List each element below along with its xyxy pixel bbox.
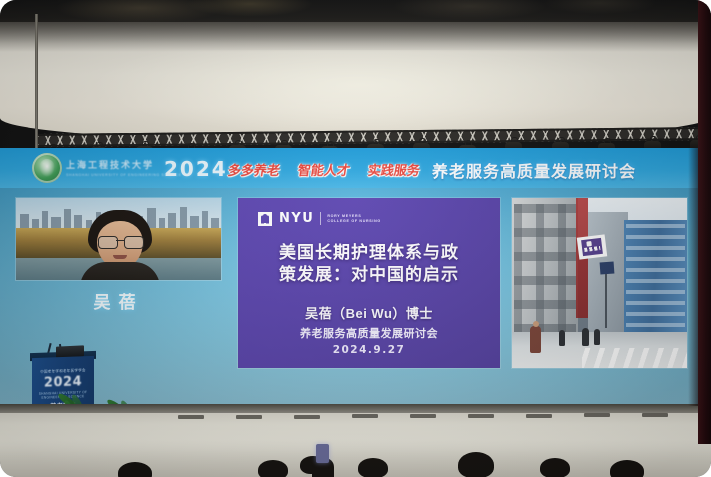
side-wall (698, 0, 711, 444)
slide-date: 2024.9.27 (250, 344, 488, 356)
nyu-logo: NYU RORY MEYERS COLLEGE OF NURSING (258, 211, 428, 226)
floor-vent (584, 413, 610, 417)
audience-head (458, 452, 494, 477)
mouth (113, 255, 127, 259)
nyu-wordmark: NYU (279, 212, 314, 225)
banner-title: 养老服务高质量发展研讨会 (432, 158, 636, 182)
nyu-torch-icon (258, 212, 272, 226)
floor-vent (468, 414, 494, 418)
pedestrian (559, 330, 565, 346)
banner-slogan-2: 智能人才 (297, 160, 352, 179)
podium-year: 2024 (38, 374, 88, 391)
university-logo: 上海工程技术大学 SHANGHAI UNIVERSITY OF ENGINEER… (32, 152, 160, 185)
logo-divider (320, 212, 321, 225)
torso (80, 262, 160, 280)
audience-head (118, 462, 152, 477)
floor-vent (236, 415, 262, 419)
banner-slogan-1: 多多养老 (227, 160, 282, 179)
nyu-college-line2: COLLEGE OF NURSING (327, 219, 381, 224)
sign-pole (605, 274, 607, 328)
university-name-cn: 上海工程技术大学 (66, 158, 158, 171)
audience-head (358, 458, 388, 477)
floor-vent (410, 414, 436, 418)
banner-slogan-3: 实践服务 (367, 160, 422, 179)
nyu-street-banner (577, 234, 607, 259)
audience-head (258, 460, 288, 477)
audience-head (610, 460, 644, 477)
slide-presenter: 吴蓓（Bei Wu）博士 (250, 303, 488, 322)
floor-vent (352, 414, 378, 418)
slide-title-line2: 策发展：对中国的启示 (250, 264, 488, 286)
campus-video-panel (512, 198, 687, 368)
stage-edge (0, 404, 711, 413)
crosswalk (582, 348, 687, 368)
university-name-en: SHANGHAI UNIVERSITY OF ENGINEERING SCIEN… (66, 173, 158, 177)
pedestrian (594, 329, 600, 345)
speaker-portrait (78, 210, 162, 280)
pedestrian (530, 326, 541, 353)
university-emblem-icon (32, 153, 62, 183)
floor-vent (294, 415, 320, 419)
ceiling-shadow (0, 22, 711, 52)
stage-photo: 上海工程技术大学 SHANGHAI UNIVERSITY OF ENGINEER… (0, 0, 711, 477)
banner-year: 2024 (164, 157, 228, 181)
presentation-slide: NYU RORY MEYERS COLLEGE OF NURSING 美国长期护… (238, 198, 500, 368)
street-sign (600, 262, 615, 275)
phone-screen (316, 444, 329, 463)
floor-vent (178, 415, 204, 419)
floor-vent (526, 414, 552, 418)
speaker-name-caption: 吴蓓 (16, 288, 221, 313)
pedestrian (582, 328, 589, 346)
speaker-video-panel (16, 198, 221, 280)
slide-event-name: 养老服务高质量发展研讨会 (250, 325, 488, 341)
slide-title-line1: 美国长期护理体系与政 (250, 242, 488, 264)
eyeglasses-icon (97, 236, 143, 247)
audience-head (540, 458, 570, 477)
slide-title: 美国长期护理体系与政 策发展：对中国的启示 (250, 242, 488, 286)
ceiling-glow (90, 50, 630, 136)
floor-vent (642, 413, 668, 417)
